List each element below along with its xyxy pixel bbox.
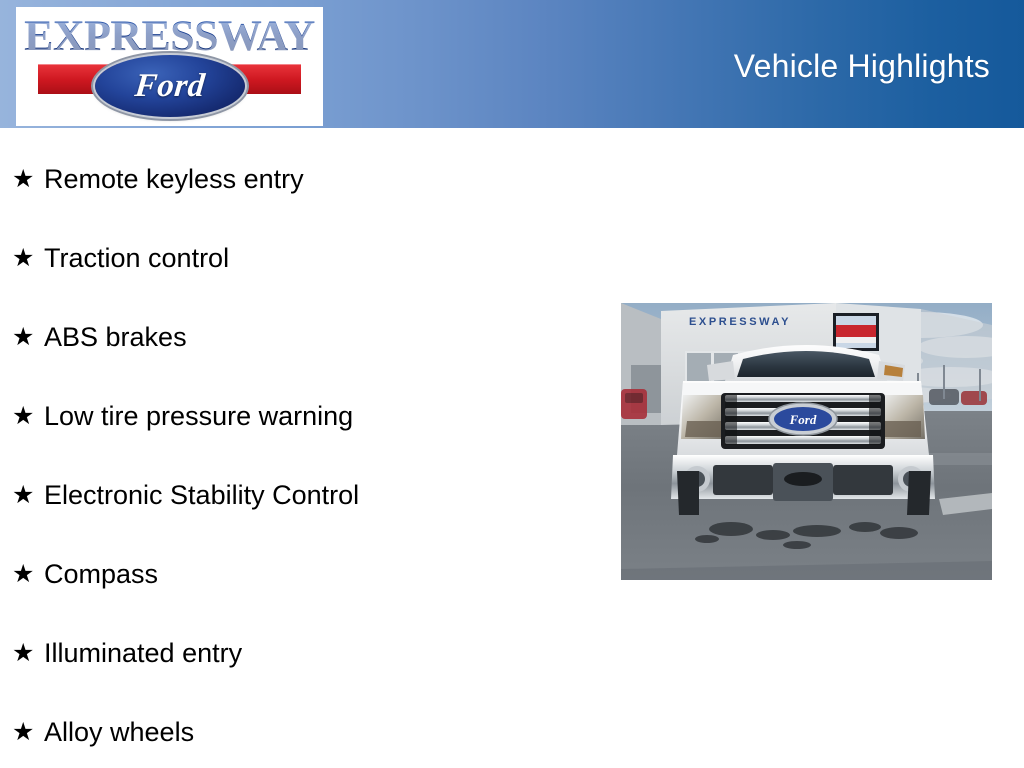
ford-badge-text: Ford	[789, 412, 817, 427]
list-item[interactable]: ★ Remote keyless entry	[0, 140, 600, 219]
list-item[interactable]: ★ Traction control	[0, 219, 600, 298]
feature-label: Low tire pressure warning	[44, 401, 353, 432]
feature-label: Traction control	[44, 243, 229, 274]
vehicle-highlights-slide: Vehicle Highlights EXPRESSWAY Ford ★ Rem…	[0, 0, 1024, 768]
dealer-logo-artwork: EXPRESSWAY Ford	[16, 7, 323, 126]
dealership-sign-text: EXPRESSWAY	[689, 316, 791, 328]
feature-label: Electronic Stability Control	[44, 480, 359, 511]
feature-label: Illuminated entry	[44, 638, 242, 669]
feature-label: Alloy wheels	[44, 717, 194, 748]
feature-label: ABS brakes	[44, 322, 187, 353]
vehicle-photo-artwork: EXPRESSWAY	[621, 303, 992, 580]
star-icon: ★	[12, 325, 44, 350]
list-item[interactable]: ★ Electronic Stability Control	[0, 456, 600, 535]
vehicle-features-list: ★ Remote keyless entry ★ Traction contro…	[0, 140, 600, 768]
list-item[interactable]: ★ Low tire pressure warning	[0, 377, 600, 456]
star-icon: ★	[12, 720, 44, 745]
ford-oval-label: Ford	[133, 68, 207, 105]
list-item[interactable]: ★ ABS brakes	[0, 298, 600, 377]
page-title: Vehicle Highlights	[734, 48, 990, 84]
star-icon: ★	[12, 562, 44, 587]
feature-label: Compass	[44, 559, 158, 590]
star-icon: ★	[12, 404, 44, 429]
list-item[interactable]: ★ Compass	[0, 535, 600, 614]
feature-label: Remote keyless entry	[44, 164, 304, 195]
star-icon: ★	[12, 483, 44, 508]
ford-oval-icon: Ford	[95, 55, 245, 117]
vehicle-photo[interactable]: EXPRESSWAY	[621, 303, 992, 580]
list-item[interactable]: ★ Illuminated entry	[0, 614, 600, 693]
list-item[interactable]: ★ Alloy wheels	[0, 693, 600, 768]
logo-wordmark: EXPRESSWAY	[16, 14, 323, 60]
star-icon: ★	[12, 246, 44, 271]
star-icon: ★	[12, 167, 44, 192]
dealer-logo[interactable]: EXPRESSWAY Ford	[16, 7, 323, 126]
star-icon: ★	[12, 641, 44, 666]
